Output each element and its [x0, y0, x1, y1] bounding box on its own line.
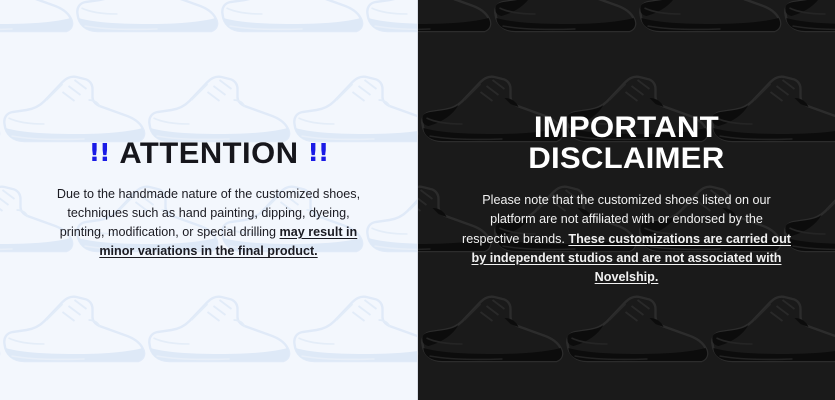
attention-panel: !! ATTENTION !! Due to the handmade natu… — [0, 0, 417, 400]
attention-content: !! ATTENTION !! Due to the handmade natu… — [0, 0, 417, 400]
attention-heading-row: !! ATTENTION !! — [89, 139, 329, 169]
disclaimer-banner: !! ATTENTION !! Due to the handmade natu… — [0, 0, 835, 400]
disclaimer-title-line1: IMPORTANT — [534, 111, 719, 144]
disclaimer-title: IMPORTANT DISCLAIMER — [528, 113, 724, 174]
attention-body: Due to the handmade nature of the custom… — [44, 185, 374, 262]
disclaimer-title-line2: DISCLAIMER — [528, 144, 724, 175]
disclaimer-body: Please note that the customized shoes li… — [461, 191, 793, 287]
disclaimer-content: IMPORTANT DISCLAIMER Please note that th… — [418, 0, 835, 400]
attention-title: ATTENTION — [119, 139, 298, 169]
exclamation-left-icon: !! — [89, 140, 110, 165]
disclaimer-panel: IMPORTANT DISCLAIMER Please note that th… — [417, 0, 835, 400]
exclamation-right-icon: !! — [307, 140, 328, 165]
